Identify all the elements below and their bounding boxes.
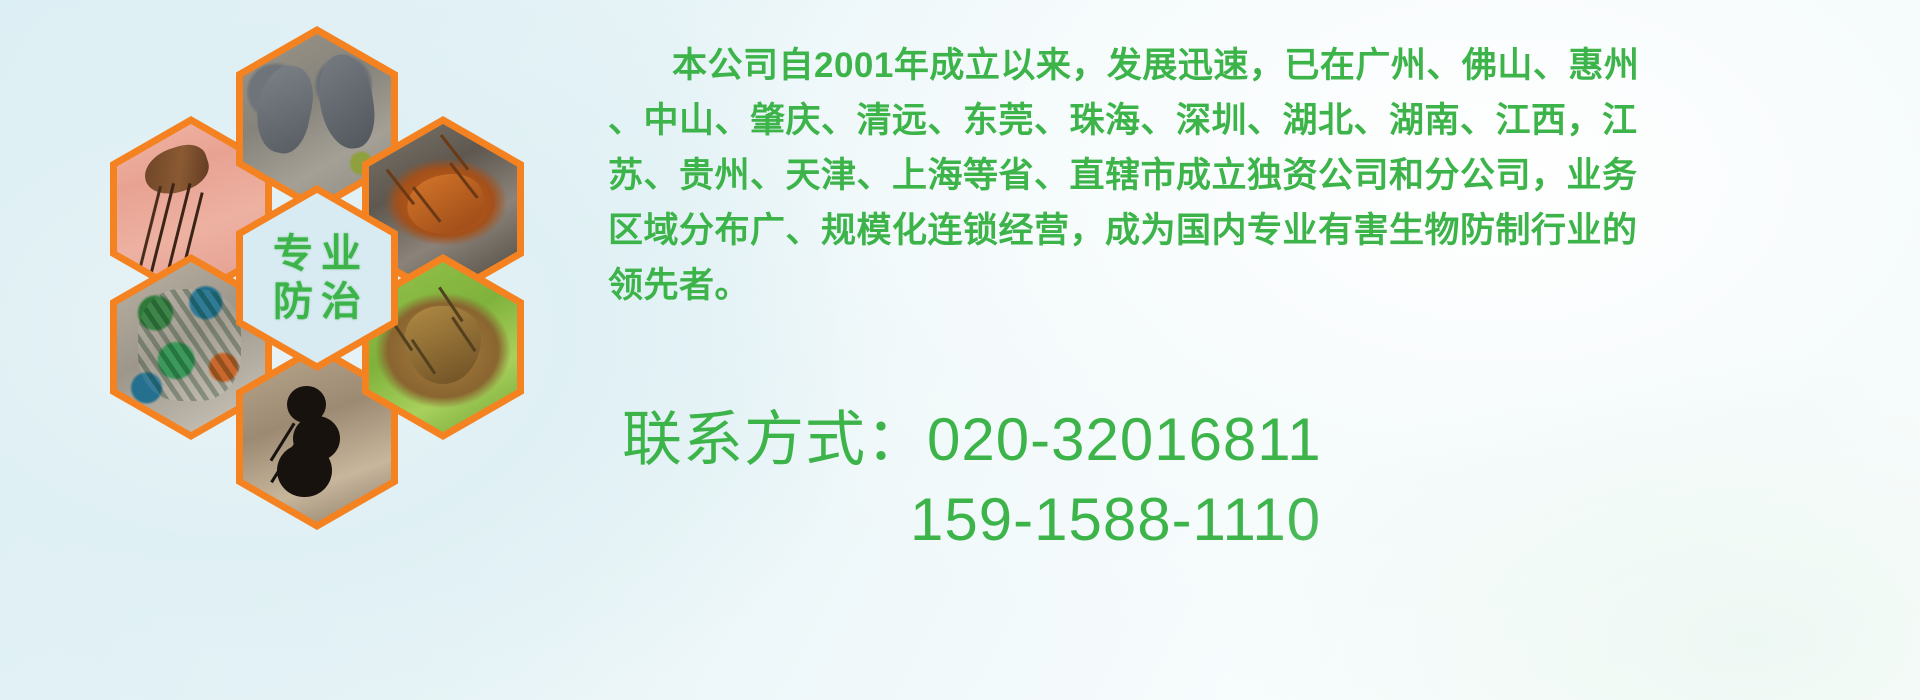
contact-line-landline[interactable]: 联系方式：020-32016811: [622, 400, 1822, 480]
contact-block: 联系方式：020-32016811 159-1588-1110: [622, 400, 1822, 560]
hex-slogan-panel: 专业 防治: [243, 193, 391, 363]
company-intro-paragraph: 本公司自2001年成立以来，发展迅速，已在广州、佛山、惠州 、中山、肇庆、清远、…: [608, 38, 1908, 313]
content-column: 本公司自2001年成立以来，发展迅速，已在广州、佛山、惠州 、中山、肇庆、清远、…: [608, 0, 1908, 700]
promo-banner: 专业 防治 本公司自2001年成立以来，发展迅速，已在广州、佛山、惠州 、中山、…: [0, 0, 1920, 700]
honeycomb-logo-cluster: 专业 防治: [88, 8, 588, 568]
slogan-text: 专业 防治: [243, 193, 391, 363]
paragraph-line: 本公司自2001年成立以来，发展迅速，已在广州、佛山、惠州: [608, 38, 1908, 93]
paragraph-line: 领先者。: [608, 258, 1908, 313]
paragraph-line: 、中山、肇庆、清远、东莞、珠海、深圳、湖北、湖南、江西，江: [608, 93, 1908, 148]
paragraph-line: 区域分布广、规模化连锁经营，成为国内专业有害生物防制行业的: [608, 203, 1908, 258]
slogan-line-2: 防治: [265, 281, 369, 323]
paragraph-line: 苏、贵州、天津、上海等省、直辖市成立独资公司和分公司，业务: [608, 148, 1908, 203]
slogan-line-1: 专业: [265, 233, 369, 275]
contact-line-mobile[interactable]: 159-1588-1110: [622, 480, 1822, 560]
